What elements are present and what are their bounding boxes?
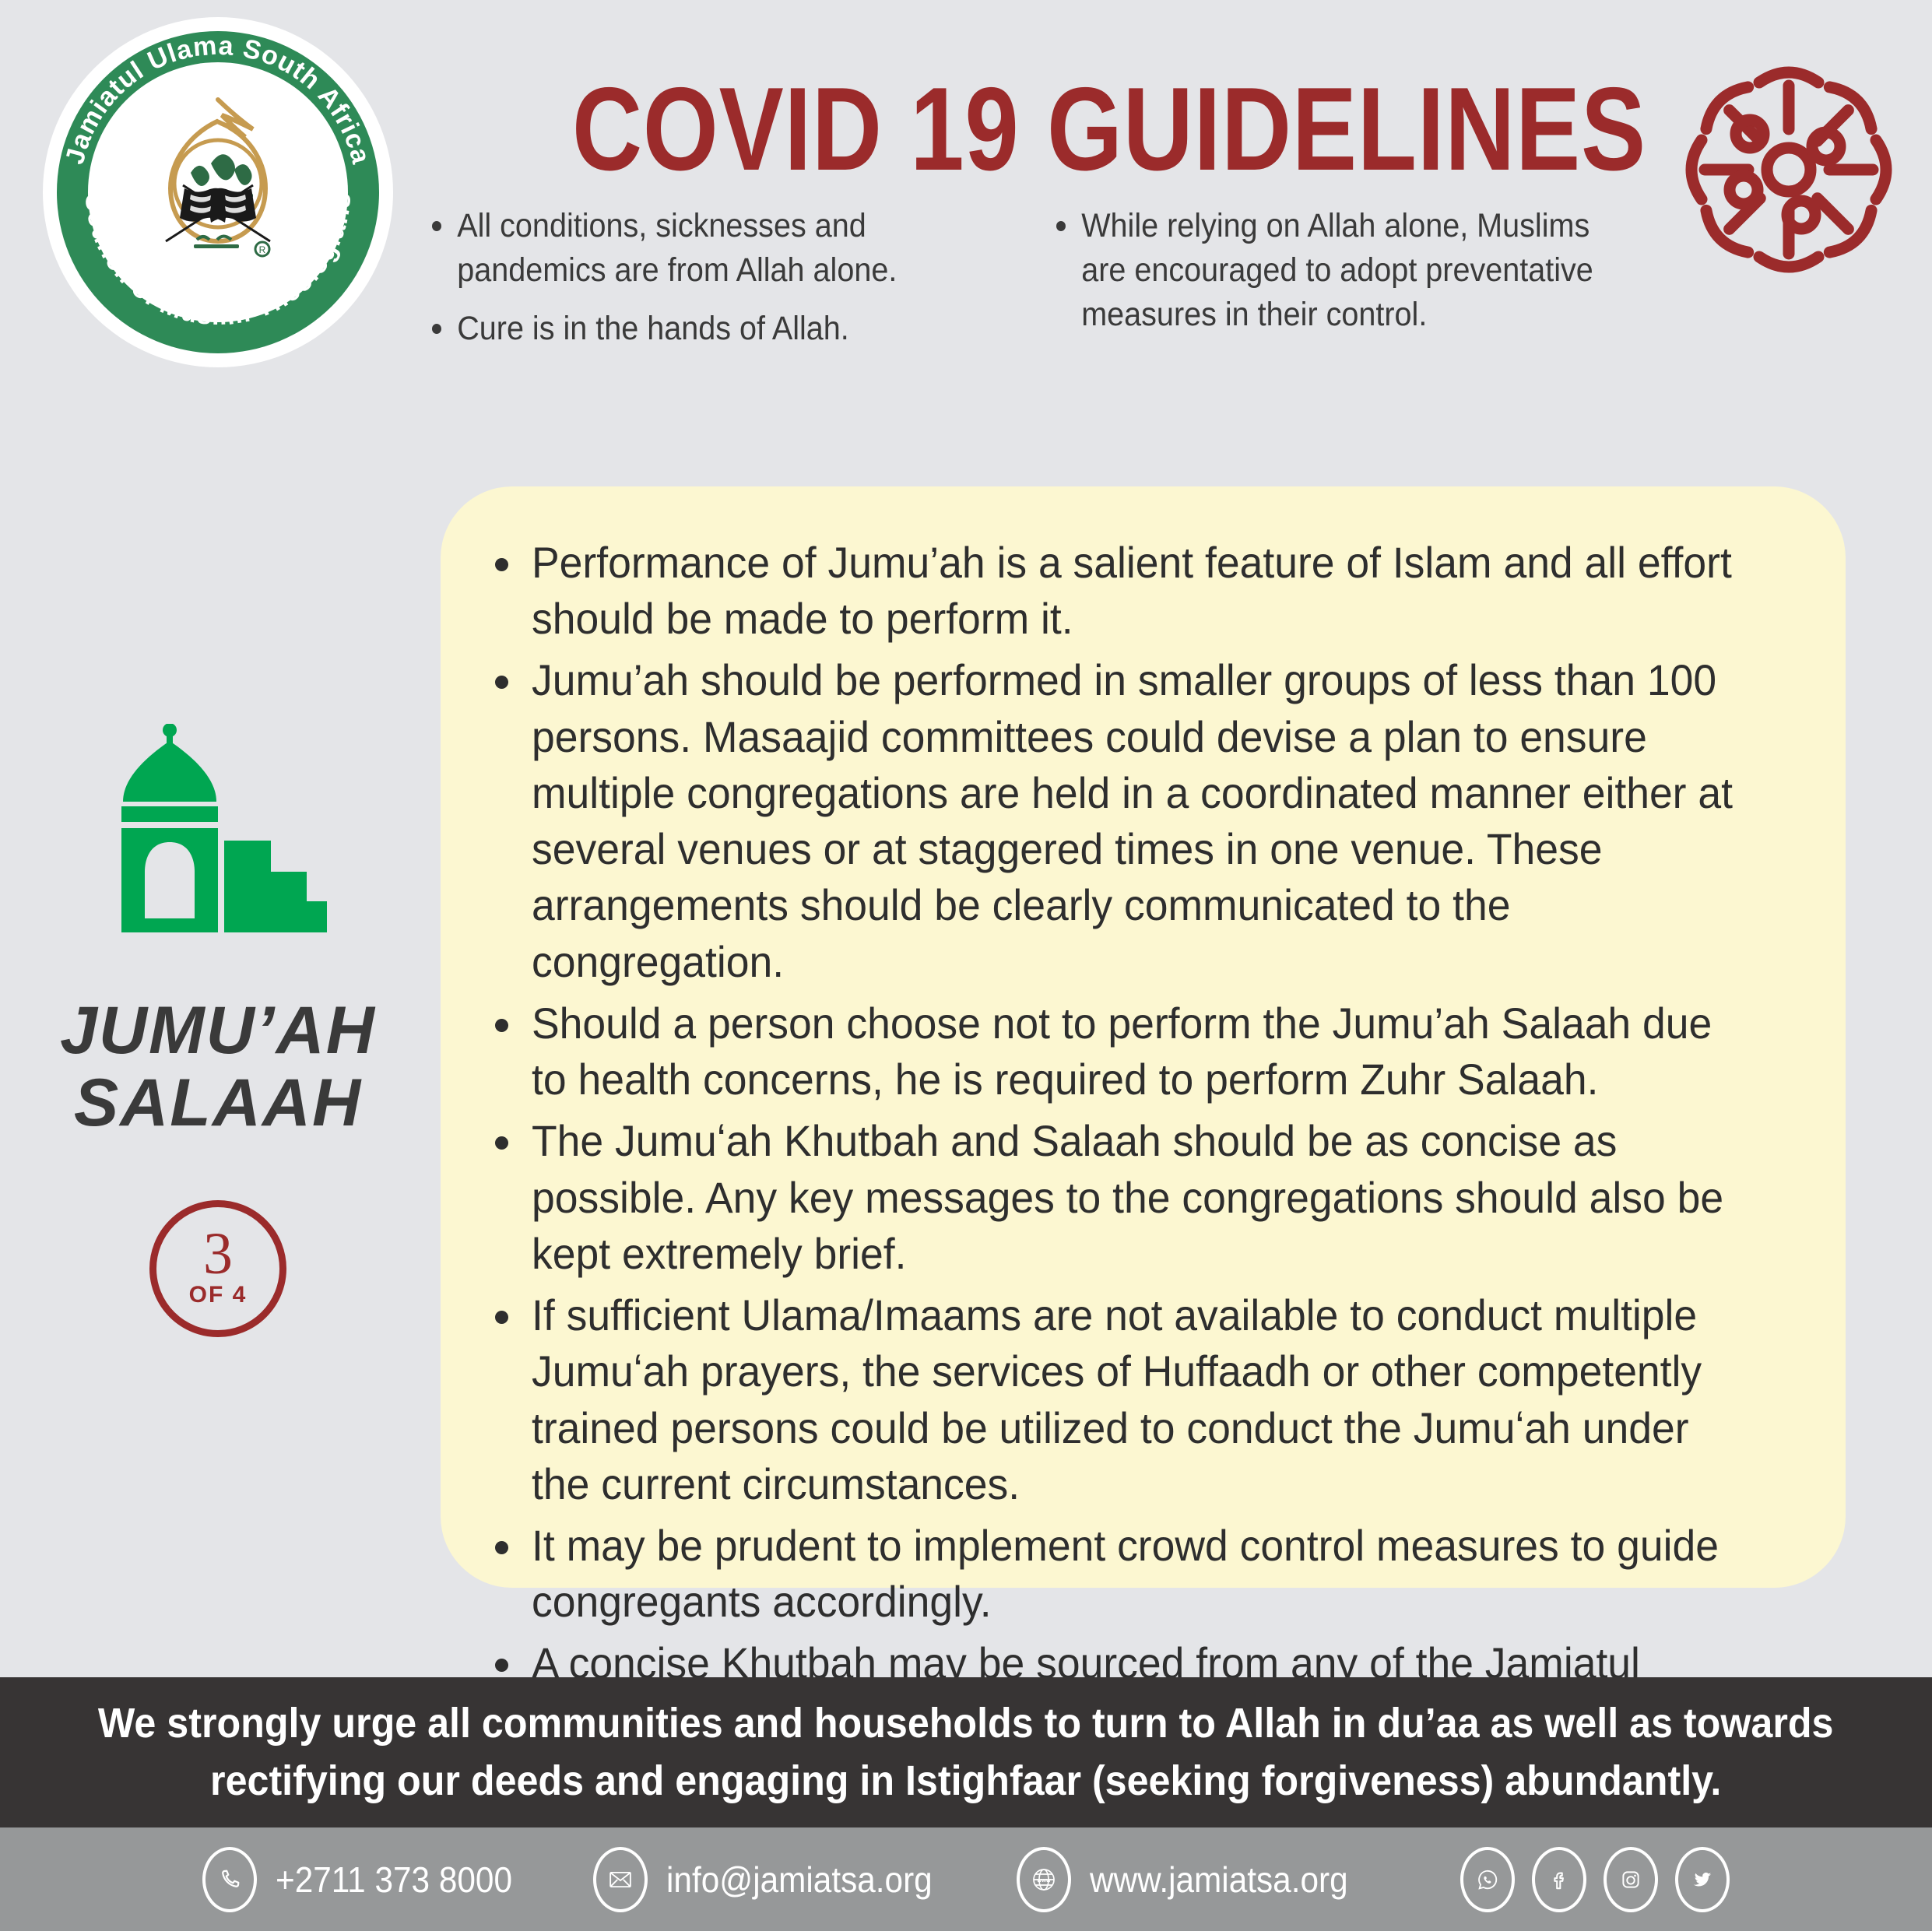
header-bullet-text: Cure is in the hands of Allah. (457, 307, 975, 351)
twitter-icon[interactable] (1675, 1847, 1730, 1912)
bullet-dot-icon (432, 324, 441, 334)
registered-mark-icon: R (255, 242, 269, 256)
header-column-right: While relying on Allah alone, Muslims ar… (1056, 204, 1646, 366)
guideline-text: Should a person choose not to perform th… (532, 995, 1734, 1108)
bullet-dot-icon (495, 1311, 508, 1324)
bullet-dot-icon (495, 1019, 508, 1032)
page-badge: 3 OF 4 (149, 1200, 286, 1337)
list-item: If sufficient Ulama/Imaams are not avail… (495, 1287, 1791, 1512)
bullet-dot-icon (495, 1136, 508, 1150)
header-bullet-text: All conditions, sicknesses and pandemics… (457, 204, 975, 293)
guideline-text: Jumu’ah should be performed in smaller g… (532, 652, 1734, 989)
list-item: Performance of Jumu’ah is a salient feat… (495, 535, 1791, 647)
section-title-line-1: JUMU’AH (0, 995, 436, 1067)
header-column-left: All conditions, sicknesses and pandemics… (432, 204, 1022, 366)
contact-phone[interactable]: +2711 373 8000 (202, 1847, 532, 1912)
header: Jamiatul Ulama South Africa Council of M… (0, 0, 1932, 436)
instagram-icon[interactable] (1604, 1847, 1658, 1912)
bullet-dot-icon (495, 676, 508, 689)
section-sidebar: JUMU’AH SALAAH 3 OF 4 (0, 724, 436, 1337)
guidelines-panel: Performance of Jumu’ah is a salient feat… (441, 486, 1846, 1588)
section-title: JUMU’AH SALAAH (0, 995, 436, 1139)
bullet-dot-icon (1056, 221, 1066, 231)
header-bullet-item: While relying on Allah alone, Muslims ar… (1056, 204, 1599, 338)
guideline-text: The Jumuʻah Khutbah and Salaah should be… (532, 1113, 1734, 1282)
social-links (1460, 1847, 1730, 1912)
header-bullet-columns: All conditions, sicknesses and pandemics… (432, 204, 1646, 366)
guideline-text: If sufficient Ulama/Imaams are not avail… (532, 1287, 1734, 1512)
contact-email[interactable]: info@jamiatsa.org (593, 1847, 955, 1912)
guideline-text: It may be prudent to implement crowd con… (532, 1518, 1734, 1630)
poster-root: Jamiatul Ulama South Africa Council of M… (0, 0, 1932, 1931)
contact-website[interactable]: www www.jamiatsa.org (1017, 1847, 1370, 1912)
guidelines-list: Performance of Jumu’ah is a salient feat… (495, 535, 1791, 1804)
section-title-line-2: SALAAH (0, 1067, 436, 1139)
page-title: COVID 19 GUIDELINES (572, 70, 1530, 188)
contact-bar: +2711 373 8000 info@jamiatsa.org (0, 1827, 1932, 1931)
email-icon (593, 1847, 648, 1912)
email-address: info@jamiatsa.org (666, 1862, 933, 1898)
bullet-dot-icon (495, 1541, 508, 1554)
header-bullet-item: All conditions, sicknesses and pandemics… (432, 204, 975, 293)
list-item: It may be prudent to implement crowd con… (495, 1518, 1791, 1630)
banner-line-1: We strongly urge all communities and hou… (98, 1695, 1834, 1752)
list-item: The Jumuʻah Khutbah and Salaah should be… (495, 1113, 1791, 1282)
header-bullet-item: Cure is in the hands of Allah. (432, 307, 975, 351)
whatsapp-icon[interactable] (1460, 1847, 1515, 1912)
banner-line-2: rectifying our deeds and engaging in Ist… (210, 1753, 1721, 1810)
coronavirus-icon (1656, 37, 1921, 302)
phone-number: +2711 373 8000 (276, 1862, 512, 1898)
globe-www-icon: www (1017, 1847, 1071, 1912)
svg-text:R: R (259, 244, 266, 255)
list-item: Jumu’ah should be performed in smaller g… (495, 652, 1791, 989)
bullet-dot-icon (495, 558, 508, 571)
phone-icon (202, 1847, 257, 1912)
organisation-logo: Jamiatul Ulama South Africa Council of M… (43, 17, 393, 367)
guideline-text: Performance of Jumu’ah is a salient feat… (532, 535, 1734, 647)
bullet-dot-icon (495, 1659, 508, 1672)
header-bullet-text: While relying on Allah alone, Muslims ar… (1081, 204, 1599, 338)
svg-text:www: www (1036, 1877, 1051, 1884)
page-badge-number: 3 (203, 1227, 233, 1280)
list-item: Should a person choose not to perform th… (495, 995, 1791, 1108)
mosque-icon (109, 724, 327, 950)
logo-emblem-icon: R (136, 89, 300, 268)
bullet-dot-icon (432, 221, 441, 231)
website-url: www.jamiatsa.org (1090, 1862, 1348, 1898)
facebook-icon[interactable] (1532, 1847, 1586, 1912)
call-to-action-banner: We strongly urge all communities and hou… (0, 1677, 1932, 1827)
page-badge-of: OF 4 (189, 1283, 248, 1307)
